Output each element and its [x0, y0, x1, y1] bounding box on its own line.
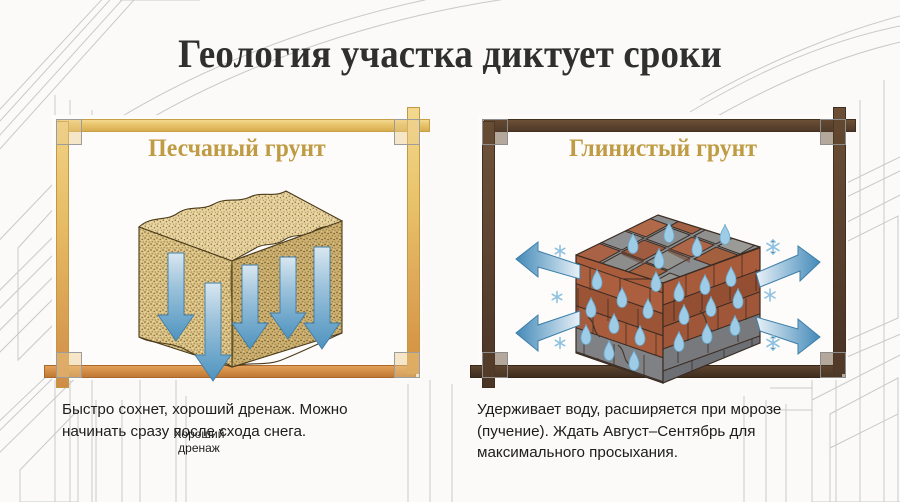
panel-heading-clay: Глинистый грунт — [478, 135, 849, 163]
panel-clay-soil: Глинистый грунт — [468, 105, 858, 390]
frame-beam-bottom — [470, 365, 842, 378]
panel-heading-sandy: Песчаный грунт — [52, 135, 423, 163]
caption-sandy-soil: Быстро сохнет, хороший дренаж. Можно нач… — [62, 399, 432, 442]
frame-joint-bottom-right — [394, 352, 420, 378]
frame-joint-bottom-right — [820, 352, 846, 378]
caption-clay-soil: Удерживает воду, расширяется при морозе … — [477, 399, 877, 464]
page-title: Геология участка диктует сроки — [36, 30, 864, 77]
frame-beam-bottom — [44, 365, 416, 378]
frame-joint-bottom-left — [482, 352, 508, 378]
frame-beam-top — [58, 119, 430, 132]
slide-canvas: Геология участка диктует сроки Песчаный … — [0, 0, 900, 502]
frame-beam-top — [484, 119, 856, 132]
panel-sandy-soil: Песчаный грунт — [42, 105, 432, 390]
frame-joint-bottom-left — [56, 352, 82, 378]
